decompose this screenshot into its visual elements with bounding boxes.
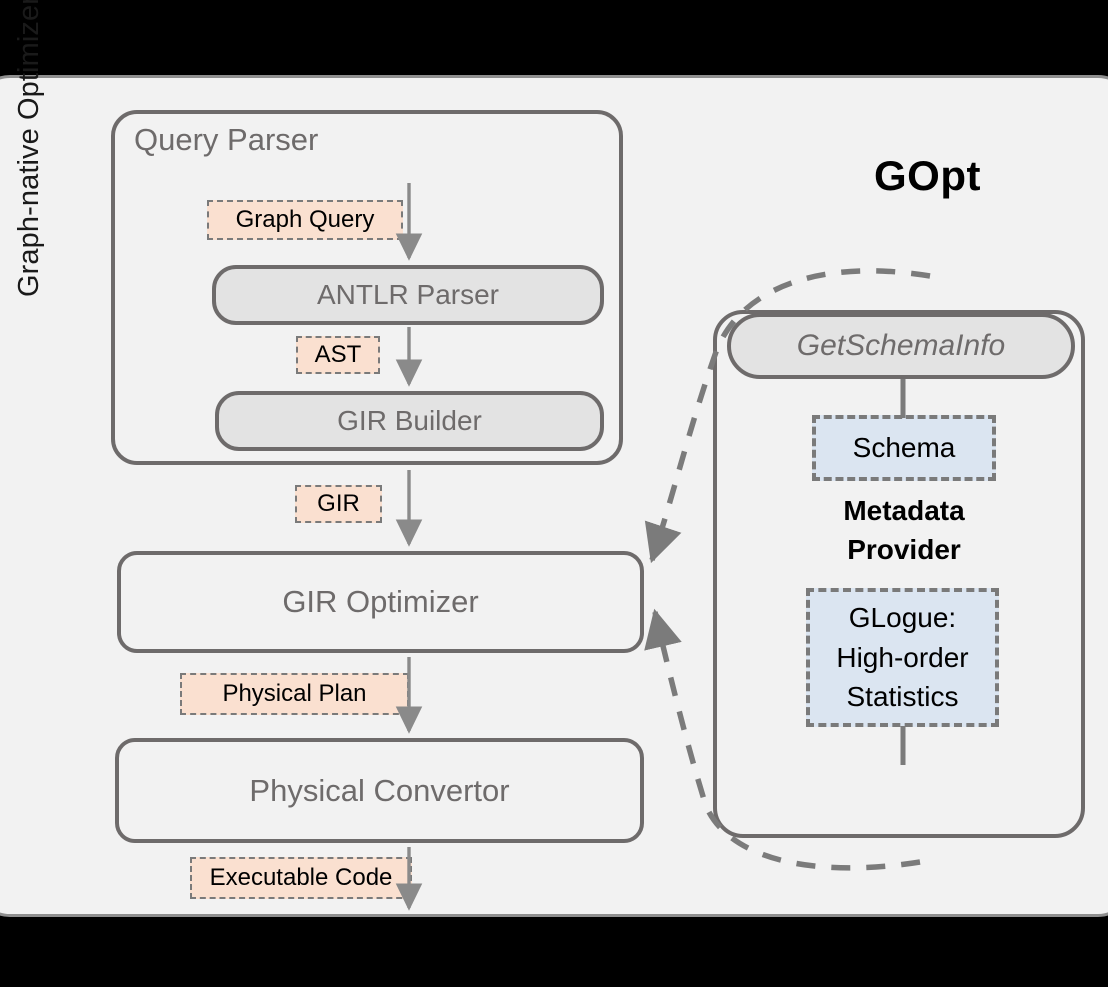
ast-chip: AST — [296, 336, 380, 374]
gir-chip: GIR — [295, 485, 382, 523]
glogue-statistics-chip: GLogue: High-order Statistics — [806, 588, 999, 727]
physical-plan-chip: Physical Plan — [180, 673, 409, 715]
gir-optimizer-module[interactable]: GIR Optimizer — [117, 551, 644, 653]
metadata-provider-label: Metadata Provider — [818, 492, 990, 569]
schema-chip: Schema — [812, 415, 996, 481]
graph-query-chip: Graph Query — [207, 200, 403, 240]
glogue-line1: GLogue: — [849, 598, 956, 638]
gir-builder-module[interactable]: GIR Builder — [215, 391, 604, 451]
metadata-provider-label-line2: Provider — [818, 531, 990, 570]
metadata-provider-label-line1: Metadata — [818, 492, 990, 531]
get-schema-info-api[interactable]: GetSchemaInfo — [727, 313, 1075, 379]
antlr-parser-module[interactable]: ANTLR Parser — [212, 265, 604, 325]
diagram-canvas: Graph-native Optimizer GOpt Query Parser… — [0, 0, 1108, 987]
glogue-line3: Statistics — [846, 677, 958, 717]
query-parser-title: Query Parser — [134, 122, 318, 158]
physical-convertor-module[interactable]: Physical Convertor — [115, 738, 644, 843]
glogue-line2: High-order — [836, 638, 968, 678]
executable-code-chip: Executable Code — [190, 857, 412, 899]
page-title: GOpt — [874, 152, 981, 200]
metadata-provider-group — [713, 310, 1085, 838]
graph-native-optimizer-label: Graph-native Optimizer — [6, 0, 52, 386]
